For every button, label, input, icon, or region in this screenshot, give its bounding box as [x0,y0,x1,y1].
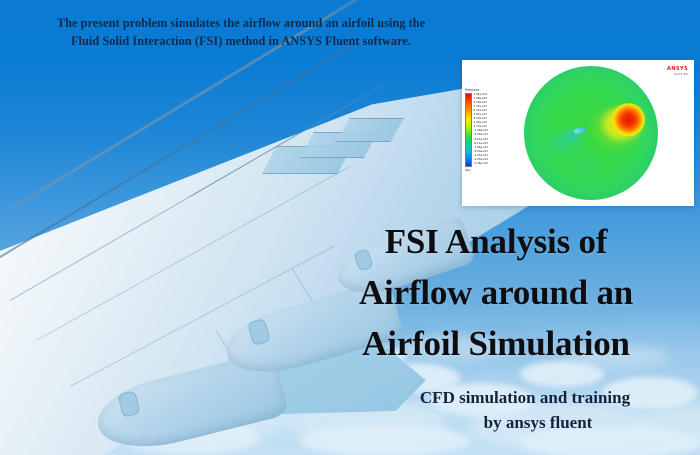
ansys-logo: ANSYS 2019 R3 [667,66,688,76]
title-line-1: FSI Analysis of [310,216,682,267]
ansys-logo-version: 2019 R3 [667,72,688,76]
poster-canvas: The present problem simulates the airflo… [0,0,700,455]
subtitle-line-2: by ansys fluent [370,410,680,435]
title-line-2: Airflow around an [310,267,682,318]
title-line-3: Airfoil Simulation [310,318,682,369]
caption-line-1: The present problem simulates the airflo… [57,16,425,30]
cfd-contour-inset: Pressure 1.24e+04 1.08e+04 9.29e+03 7.75… [462,60,694,206]
page-subtitle: CFD simulation and training by ansys flu… [370,385,680,435]
legend-tick-list: 1.24e+04 1.08e+04 9.29e+03 7.75e+03 6.21… [474,93,488,165]
pressure-contour-domain [524,66,658,200]
caption-line-2: Fluid Solid Interaction (FSI) method in … [0,32,482,50]
caption-text: The present problem simulates the airflo… [0,14,482,50]
legend-colorbar [465,93,472,167]
page-title: FSI Analysis of Airflow around an Airfoi… [310,216,682,369]
pressure-legend: Pressure 1.24e+04 1.08e+04 9.29e+03 7.75… [465,88,521,172]
legend-tick: -1.38e+04 [474,162,488,165]
legend-unit: [Pa] [465,168,521,172]
subtitle-line-1: CFD simulation and training [370,385,680,410]
